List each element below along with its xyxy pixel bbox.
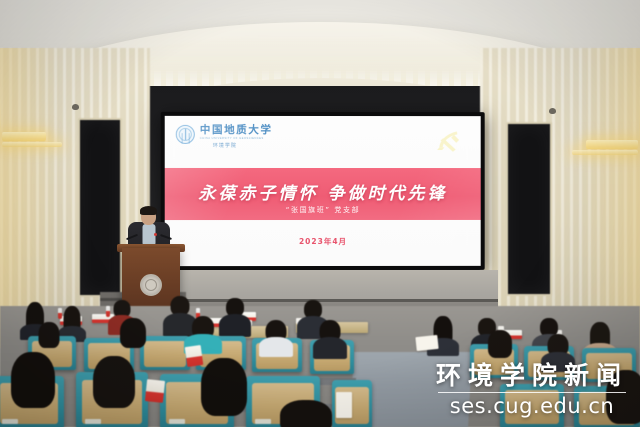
audience-person-15: [316, 320, 344, 350]
university-name-en: CHINA UNIVERSITY OF GEOSCIENCES: [200, 137, 273, 140]
left-wall-light-bar: [2, 132, 46, 141]
screen-date: 2023年4月: [165, 236, 481, 247]
presentation-screen[interactable]: 中国地质大学 CHINA UNIVERSITY OF GEOSCIENCES 环…: [161, 112, 485, 270]
left-acoustic-panel: [78, 118, 122, 297]
left-wall-light-bar-2: [2, 142, 62, 147]
audience-person-2: [60, 306, 84, 338]
right-acoustic-panel: [506, 122, 552, 296]
hammer-sickle-icon: [431, 128, 465, 154]
right-wall-light-bar-2: [572, 150, 638, 155]
audience-person-18: [6, 352, 60, 412]
screen-main-title: 永葆赤子情怀 争做时代先锋: [165, 179, 481, 204]
paper-icon-1: [415, 335, 438, 351]
watermark-url: ses.cug.edu.cn: [436, 396, 628, 417]
screen-content: 中国地质大学 CHINA UNIVERSITY OF GEOSCIENCES 环…: [165, 116, 481, 266]
audience-person-13: [188, 316, 218, 346]
paper-icon-2: [336, 392, 352, 418]
speaker-hair: [140, 206, 157, 215]
booklet-icon-1: [185, 345, 204, 367]
right-wall-light-bar: [586, 140, 638, 149]
watermark: 环境学院新闻 ses.cug.edu.cn: [436, 363, 628, 417]
ceiling-camera-icon-right: [549, 108, 556, 114]
university-name: 中国地质大学: [200, 125, 273, 136]
audience-person-5: [222, 298, 248, 336]
audience-person-14: [262, 320, 290, 348]
watermark-divider: [438, 392, 626, 393]
audience-person-19: [88, 356, 140, 414]
speaker-badge: [154, 233, 157, 236]
booklet-icon-2: [145, 379, 165, 403]
audience-person-17: [544, 334, 572, 364]
college-name: 环境学院: [213, 142, 237, 149]
university-seal-icon: [140, 274, 162, 296]
watermark-title: 环境学院新闻: [436, 363, 628, 388]
audience-person-16: [486, 330, 514, 360]
ceiling-camera-icon-left: [72, 104, 79, 110]
screen-subtitle: “张国旗班” 党支部: [165, 205, 481, 215]
audience-person-21: [276, 400, 336, 427]
audience-person-12: [118, 318, 148, 346]
right-wall-warm-light: [580, 48, 640, 348]
audience-person-11: [36, 322, 62, 346]
university-emblem-icon: [176, 125, 195, 144]
audience-person-20: [196, 358, 252, 420]
photo-scene: 中国地质大学 CHINA UNIVERSITY OF GEOSCIENCES 环…: [0, 0, 640, 427]
